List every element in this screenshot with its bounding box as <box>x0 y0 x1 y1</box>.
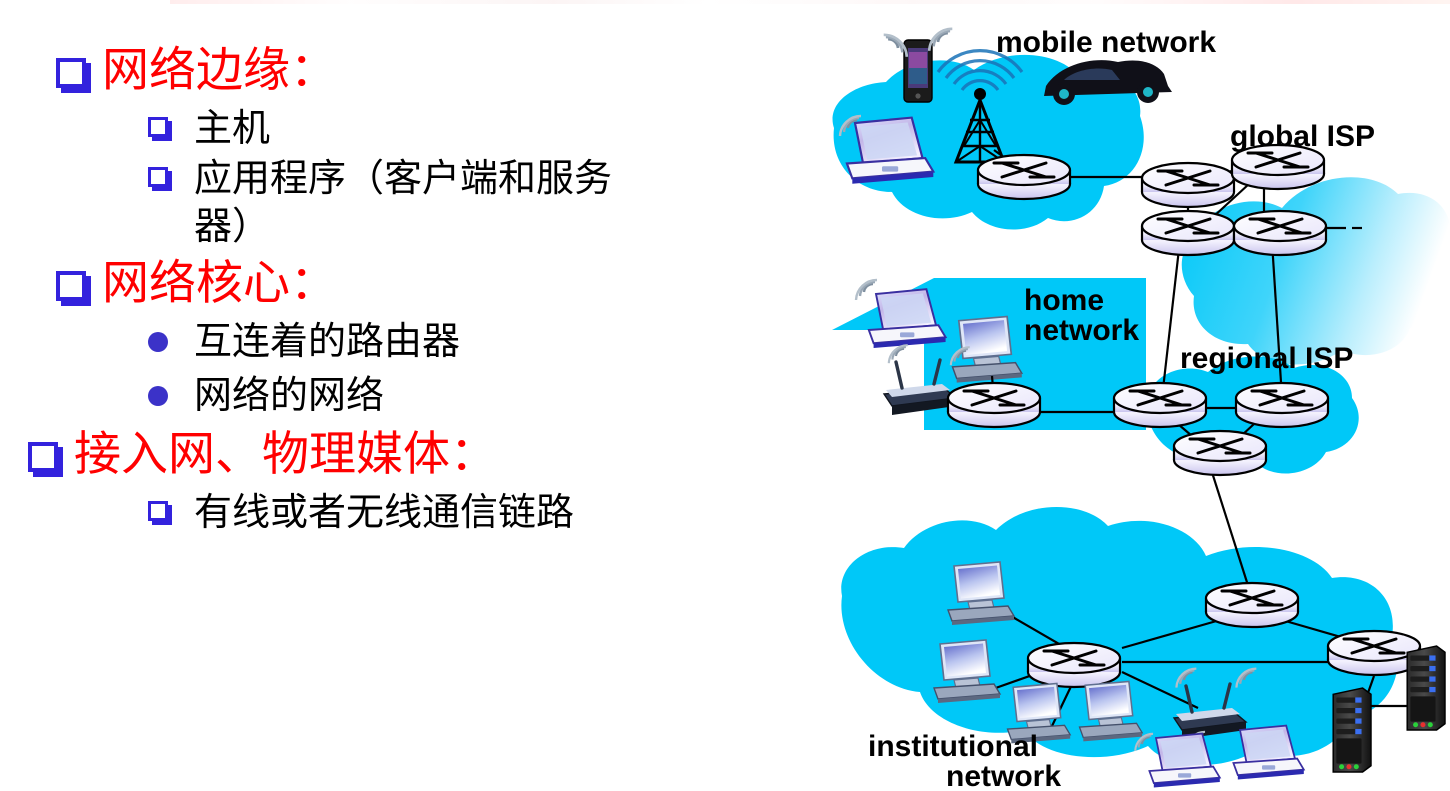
network-topology-diagram: mobile network global ISP home network r… <box>812 0 1450 791</box>
institutional-network-label-line2: network <box>946 760 1061 791</box>
smartphone-icon <box>904 40 932 102</box>
slide-canvas: 网络边缘： 主机 应用程序（客户端和服务器） 网络核心： 互连着的路由器 <box>0 0 1450 791</box>
router-icon <box>1206 583 1298 627</box>
router-icon <box>1142 163 1234 207</box>
global-isp-label: global ISP <box>1230 120 1375 153</box>
router-icon <box>948 383 1040 427</box>
global-isp-cloud <box>1182 177 1450 364</box>
round-bullet-icon <box>148 318 194 352</box>
outline-item-hosts[interactable]: 主机 <box>148 105 820 153</box>
outline-item-interconnected-routers[interactable]: 互连着的路由器 <box>148 318 820 366</box>
square-bullet-icon <box>56 42 102 88</box>
outline-item-access-network[interactable]: 接入网、物理媒体： <box>28 426 820 483</box>
regional-isp-label: regional ISP <box>1180 342 1353 375</box>
router-icon <box>1236 383 1328 427</box>
square-bullet-icon <box>148 489 194 521</box>
router-icon <box>1328 631 1420 675</box>
outline-item-network-of-networks[interactable]: 网络的网络 <box>148 372 820 420</box>
wifi-icon <box>856 280 877 300</box>
square-bullet-icon <box>28 426 74 472</box>
outline-item-label: 网络的网络 <box>194 372 384 420</box>
square-bullet-icon <box>148 105 194 137</box>
round-bullet-icon <box>148 372 194 406</box>
outline-item-wired-wireless-links[interactable]: 有线或者无线通信链路 <box>148 489 820 537</box>
router-icon <box>1174 431 1266 475</box>
outline-item-label: 主机 <box>194 105 270 153</box>
server-tower-icon <box>1407 646 1445 730</box>
router-icon <box>1142 211 1234 255</box>
outline-item-label: 有线或者无线通信链路 <box>194 489 574 537</box>
router-icon <box>1114 383 1206 427</box>
router-icon <box>1028 643 1120 687</box>
outline-item-label: 接入网、物理媒体： <box>74 426 497 483</box>
outline-item-network-core[interactable]: 网络核心： <box>56 255 820 312</box>
outline-item-label: 应用程序（客户端和服务器） <box>194 155 649 251</box>
square-bullet-icon <box>56 255 102 301</box>
router-icon <box>1234 211 1326 255</box>
institutional-network-label-line1: institutional <box>868 730 1038 763</box>
home-network-label-line2: network <box>1024 314 1139 347</box>
square-bullet-icon <box>148 155 194 187</box>
outline-item-network-edge[interactable]: 网络边缘： <box>56 42 820 99</box>
home-network-label-line1: home <box>1024 284 1104 317</box>
outline-item-applications[interactable]: 应用程序（客户端和服务器） <box>148 155 820 251</box>
outline-item-label: 互连着的路由器 <box>194 318 460 366</box>
mobile-network-label: mobile network <box>996 26 1216 59</box>
server-tower-icon <box>1333 688 1371 772</box>
router-icon <box>978 155 1070 199</box>
outline-item-label: 网络边缘： <box>102 42 337 99</box>
outline-list: 网络边缘： 主机 应用程序（客户端和服务器） 网络核心： 互连着的路由器 <box>0 42 820 539</box>
outline-item-label: 网络核心： <box>102 255 337 312</box>
wifi-icon <box>889 345 908 363</box>
